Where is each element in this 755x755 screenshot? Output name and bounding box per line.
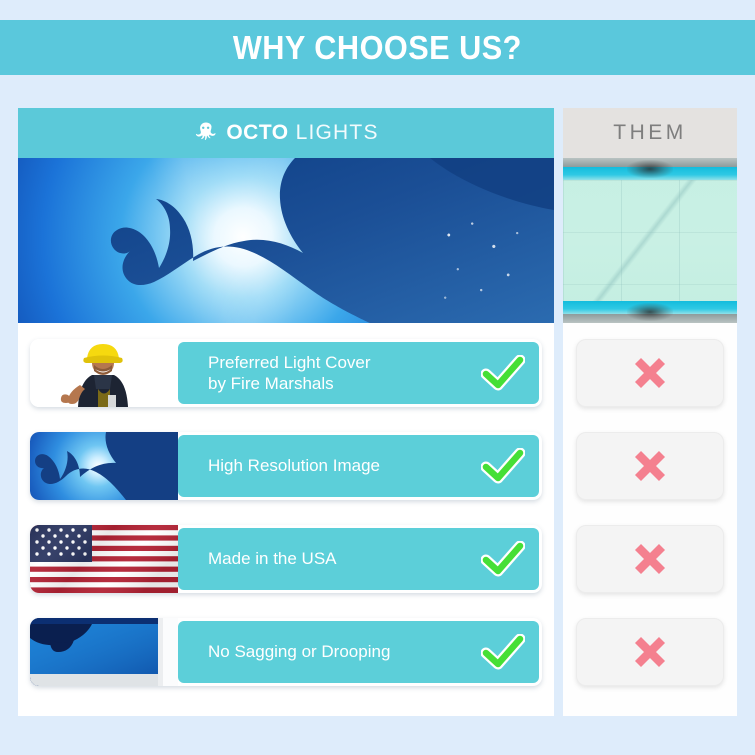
brand-header: OCTO LIGHTS (18, 108, 554, 158)
firefighter-thumbnail (30, 339, 178, 407)
feature-label: High Resolution Image (208, 455, 380, 476)
check-icon (481, 634, 525, 670)
feature-row[interactable]: No Sagging or Drooping (30, 618, 542, 686)
shark-thumbnail (30, 432, 178, 500)
octopus-icon (193, 120, 219, 146)
x-icon (631, 540, 669, 578)
claim-bar: No Sagging or Drooping (178, 621, 539, 683)
us-hero-image (18, 158, 554, 323)
bubbles (438, 216, 528, 311)
them-column-panel: THEM (563, 108, 737, 716)
check-icon (481, 355, 525, 391)
check-icon (481, 541, 525, 577)
feature-label: Preferred Light Cover by Fire Marshals (208, 352, 371, 395)
ceiling-light-thumbnail (30, 618, 178, 686)
brand-name-light: LIGHTS (296, 121, 379, 145)
x-icon (631, 354, 669, 392)
claim-bar: Preferred Light Cover by Fire Marshals (178, 342, 539, 404)
x-card[interactable] (576, 618, 724, 686)
sag-shadow-bottom (627, 303, 673, 321)
sag-shadow-top (627, 160, 673, 178)
x-icon (631, 447, 669, 485)
page-title: WHY CHOOSE US? (233, 29, 522, 67)
check-icon (481, 448, 525, 484)
feature-row[interactable]: High Resolution Image (30, 432, 542, 500)
them-hero-image (563, 158, 737, 323)
claim-bar: Made in the USA (178, 528, 539, 590)
claim-bar: High Resolution Image (178, 435, 539, 497)
x-card[interactable] (576, 432, 724, 500)
feature-row[interactable]: Preferred Light Cover by Fire Marshals (30, 339, 542, 407)
feature-label: No Sagging or Drooping (208, 641, 390, 662)
comparison-container: OCTO LIGHTS (18, 108, 737, 716)
feature-row[interactable]: Made in the USA (30, 525, 542, 593)
x-card[interactable] (576, 525, 724, 593)
fabric-creases (563, 180, 737, 301)
us-column-panel: OCTO LIGHTS (18, 108, 554, 716)
feature-label: Made in the USA (208, 548, 337, 569)
x-card[interactable] (576, 339, 724, 407)
them-title: THEM (613, 121, 687, 145)
page-title-banner: WHY CHOOSE US? (0, 20, 755, 75)
them-feature-list (563, 323, 737, 686)
us-feature-list: Preferred Light Cover by Fire Marshals (18, 323, 554, 686)
x-icon (631, 633, 669, 671)
brand-name-strong: OCTO (226, 121, 288, 145)
usa-flag-thumbnail (30, 525, 178, 593)
them-header: THEM (563, 108, 737, 158)
